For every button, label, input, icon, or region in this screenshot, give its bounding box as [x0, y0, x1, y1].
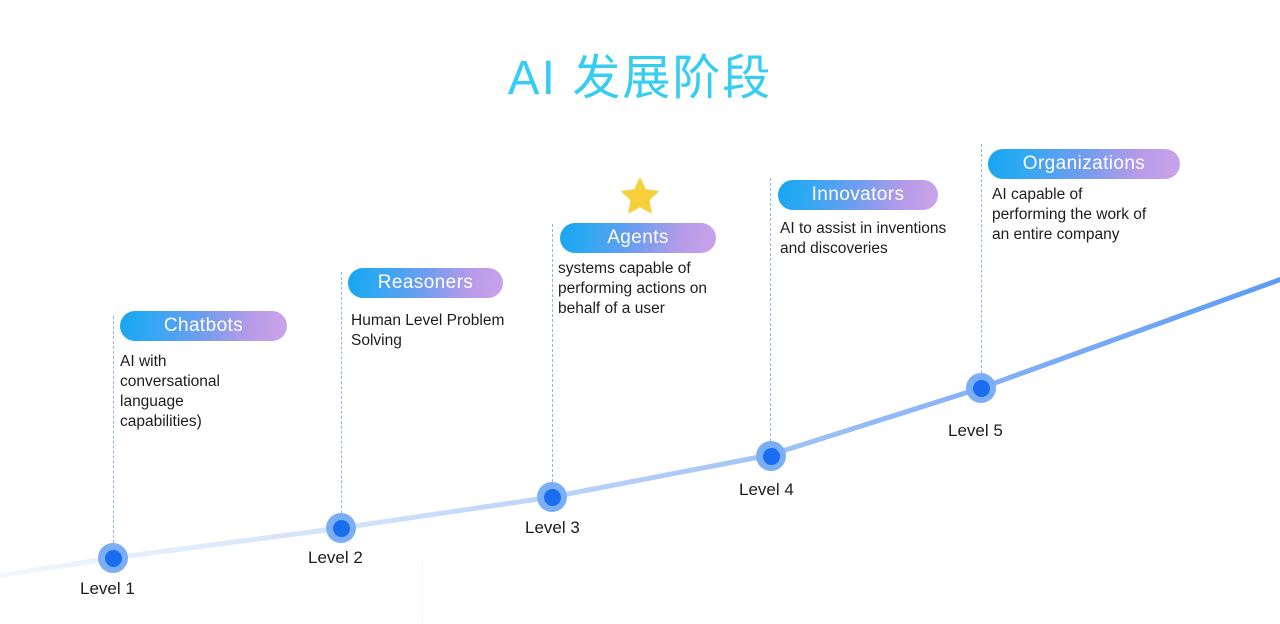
star-icon [618, 174, 662, 218]
stage-pill-level-2[interactable]: Reasoners [348, 268, 503, 298]
stage-pill-level-4[interactable]: Innovators [778, 180, 938, 210]
stage-pill-level-1[interactable]: Chatbots [120, 311, 287, 341]
page-title: AI 发展阶段 [0, 38, 1280, 108]
level-label-level-2: Level 2 [308, 548, 363, 568]
level-label-level-1: Level 1 [80, 579, 135, 599]
stage-description-level-1: AI with conversational language capabili… [120, 352, 330, 432]
level-label-level-4: Level 4 [739, 480, 794, 500]
faint-guide-line [422, 560, 423, 624]
stage-node-level-2[interactable] [326, 513, 356, 543]
stage-pill-level-3[interactable]: Agents [560, 223, 716, 253]
stage-node-level-4[interactable] [756, 441, 786, 471]
stage-node-level-3[interactable] [537, 482, 567, 512]
connector-line-level-1 [113, 316, 114, 558]
stage-node-core-level-4 [763, 448, 780, 465]
stage-node-core-level-5 [973, 380, 990, 397]
stage-node-core-level-1 [105, 550, 122, 567]
stage-description-level-5: AI capable of performing the work of an … [992, 185, 1192, 245]
stage-node-core-level-3 [544, 489, 561, 506]
stage-description-level-2: Human Level Problem Solving [351, 311, 581, 351]
connector-line-level-4 [770, 178, 771, 456]
connector-line-level-5 [981, 144, 982, 388]
connector-line-level-2 [341, 272, 342, 528]
level-label-level-3: Level 3 [525, 518, 580, 538]
stage-pill-level-5[interactable]: Organizations [988, 149, 1180, 179]
slide-canvas: AI 发展阶段 Chatbots AI with conversational … [0, 0, 1280, 624]
stage-node-level-5[interactable] [966, 373, 996, 403]
stage-node-level-1[interactable] [98, 543, 128, 573]
stage-description-level-3: systems capable of performing actions on… [558, 259, 758, 319]
stage-description-level-4: AI to assist in inventions and discoveri… [780, 219, 1020, 259]
stage-node-core-level-2 [333, 520, 350, 537]
connector-line-level-3 [552, 224, 553, 497]
level-label-level-5: Level 5 [948, 421, 1003, 441]
